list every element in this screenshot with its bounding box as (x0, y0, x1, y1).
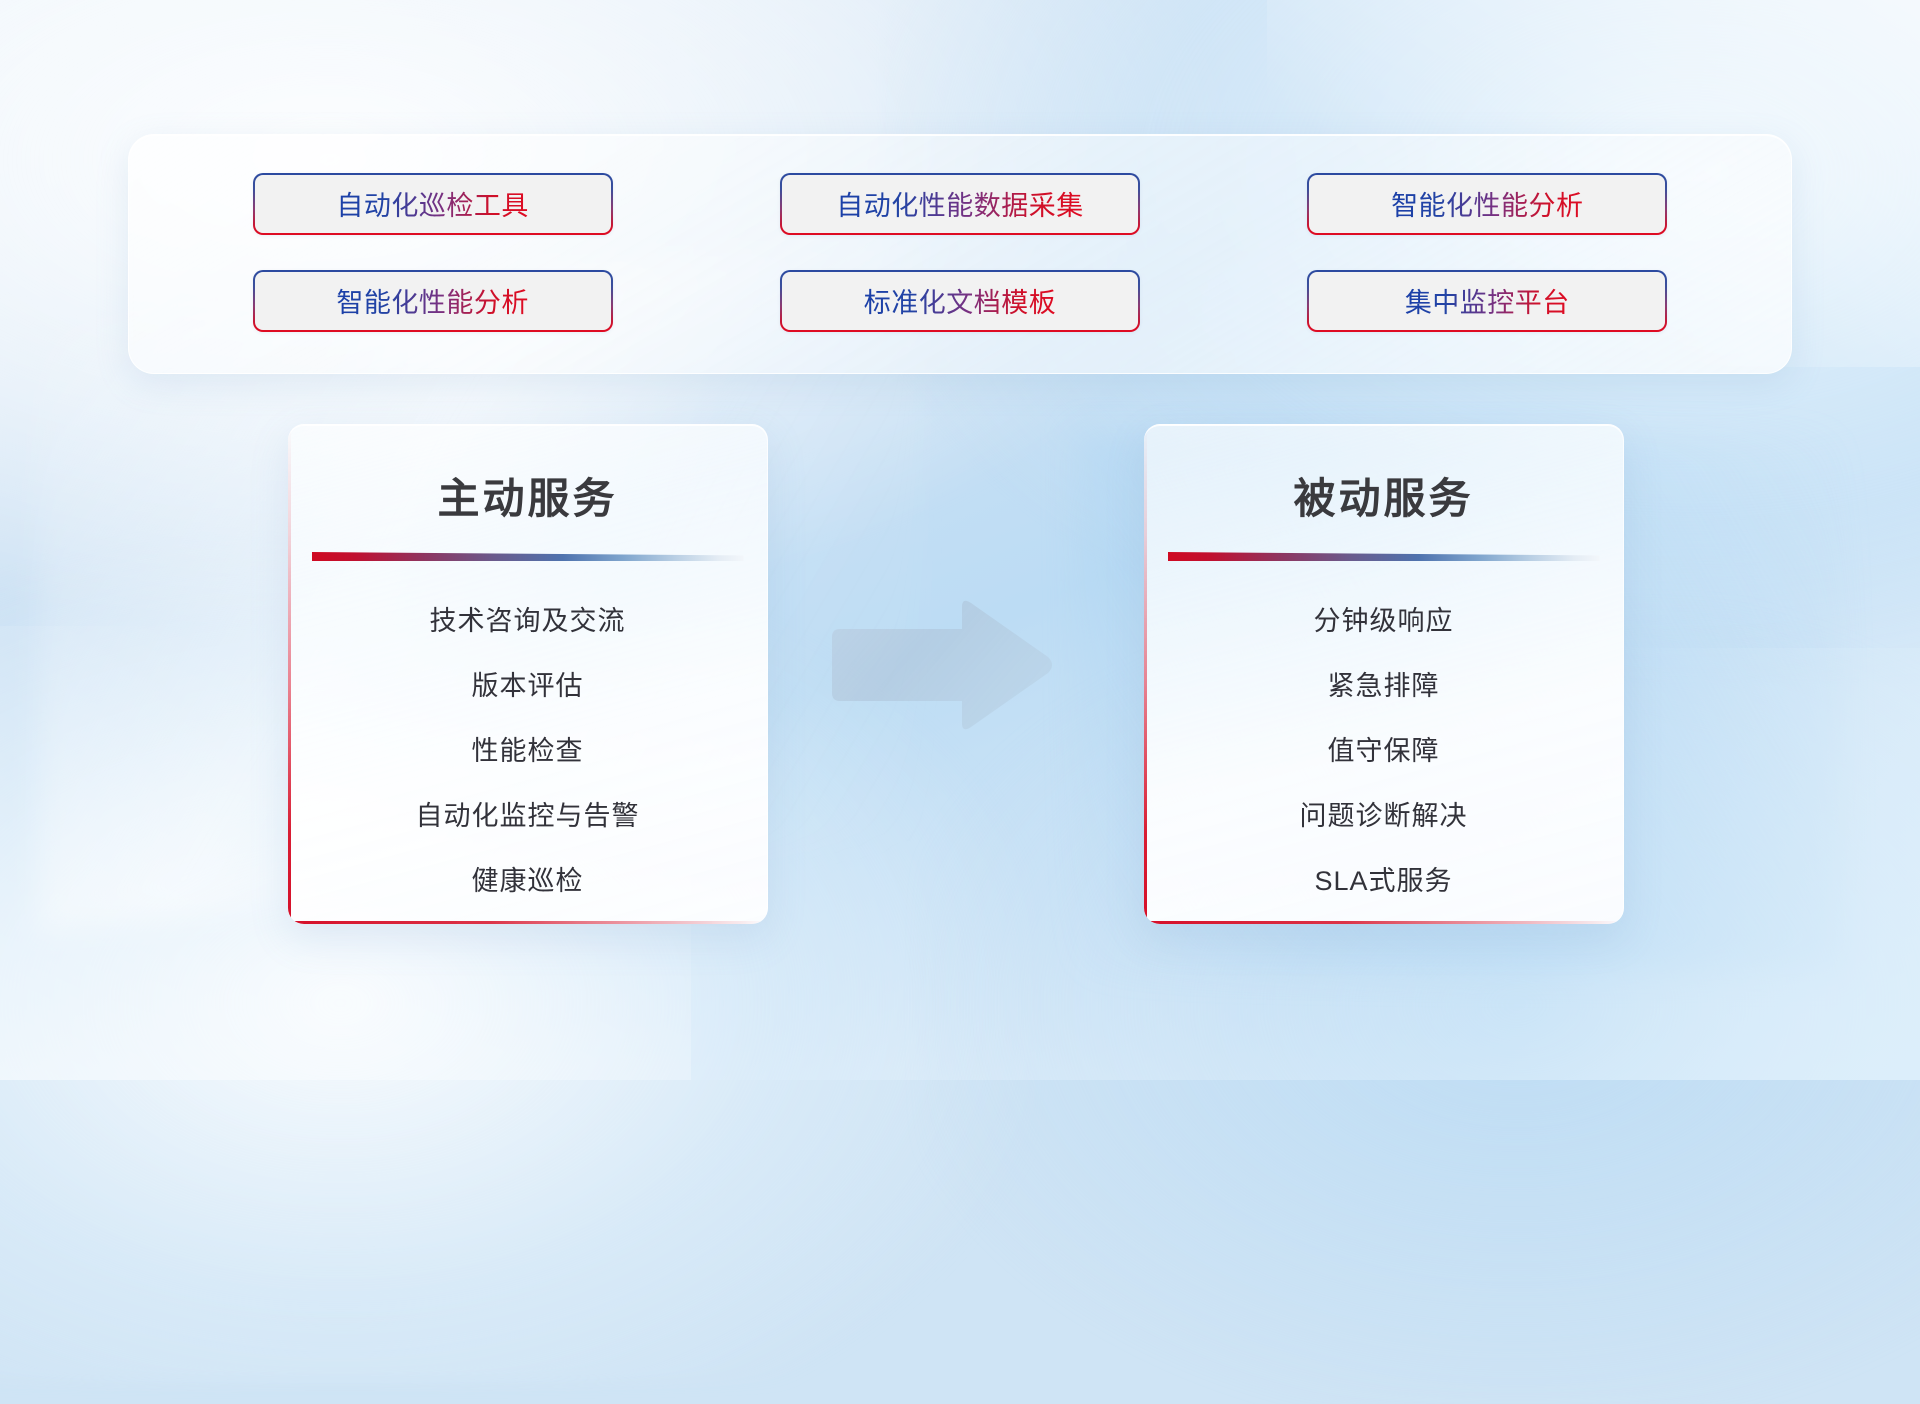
capability-tag-label: 标准化文档模板 (864, 281, 1057, 320)
card-list-item: 健康巡检 (472, 859, 584, 898)
capability-tag-2[interactable]: 智能化性能分析 (1307, 173, 1667, 235)
card-list-item: 性能检查 (472, 729, 584, 768)
capability-tag-label: 自动化性能数据采集 (836, 184, 1084, 223)
card-divider (1168, 552, 1600, 561)
card-list-item: 紧急排障 (1328, 664, 1440, 703)
capability-tag-label: 智能化性能分析 (1391, 184, 1584, 223)
card-item-list: 分钟级响应 紧急排障 值守保障 问题诊断解决 SLA式服务 (1144, 599, 1623, 898)
card-title: 主动服务 (288, 465, 767, 526)
right-arrow-icon (826, 595, 1056, 735)
capability-tag-label: 自动化巡检工具 (336, 184, 529, 223)
card-list-item: 技术咨询及交流 (430, 599, 626, 638)
card-title: 被动服务 (1144, 465, 1623, 526)
card-list-item: 版本评估 (472, 664, 584, 703)
capability-tag-label: 智能化性能分析 (336, 281, 529, 320)
card-list-item: 分钟级响应 (1314, 599, 1454, 638)
card-list-item: 值守保障 (1328, 729, 1440, 768)
capability-tag-4[interactable]: 标准化文档模板 (780, 270, 1140, 332)
card-item-list: 技术咨询及交流 版本评估 性能检查 自动化监控与告警 健康巡检 (288, 599, 767, 898)
capability-tag-3[interactable]: 智能化性能分析 (253, 270, 613, 332)
capability-tag-label: 集中监控平台 (1405, 281, 1570, 320)
capability-tag-panel: 自动化巡检工具 自动化性能数据采集 智能化性能分析 智能化性能分析 标准化文档模… (128, 134, 1792, 374)
capability-tag-0[interactable]: 自动化巡检工具 (253, 173, 613, 235)
capability-tag-1[interactable]: 自动化性能数据采集 (780, 173, 1140, 235)
card-list-item: 问题诊断解决 (1300, 794, 1468, 833)
capability-tag-5[interactable]: 集中监控平台 (1307, 270, 1667, 332)
card-list-item: 自动化监控与告警 (416, 794, 640, 833)
service-card-active: 主动服务 技术咨询及交流 版本评估 性能检查 自动化监控与告警 健康巡检 (288, 424, 768, 924)
card-list-item: SLA式服务 (1314, 859, 1452, 898)
service-card-passive: 被动服务 分钟级响应 紧急排障 值守保障 问题诊断解决 SLA式服务 (1144, 424, 1624, 924)
flow-arrow (826, 595, 1056, 735)
card-divider (312, 552, 744, 561)
